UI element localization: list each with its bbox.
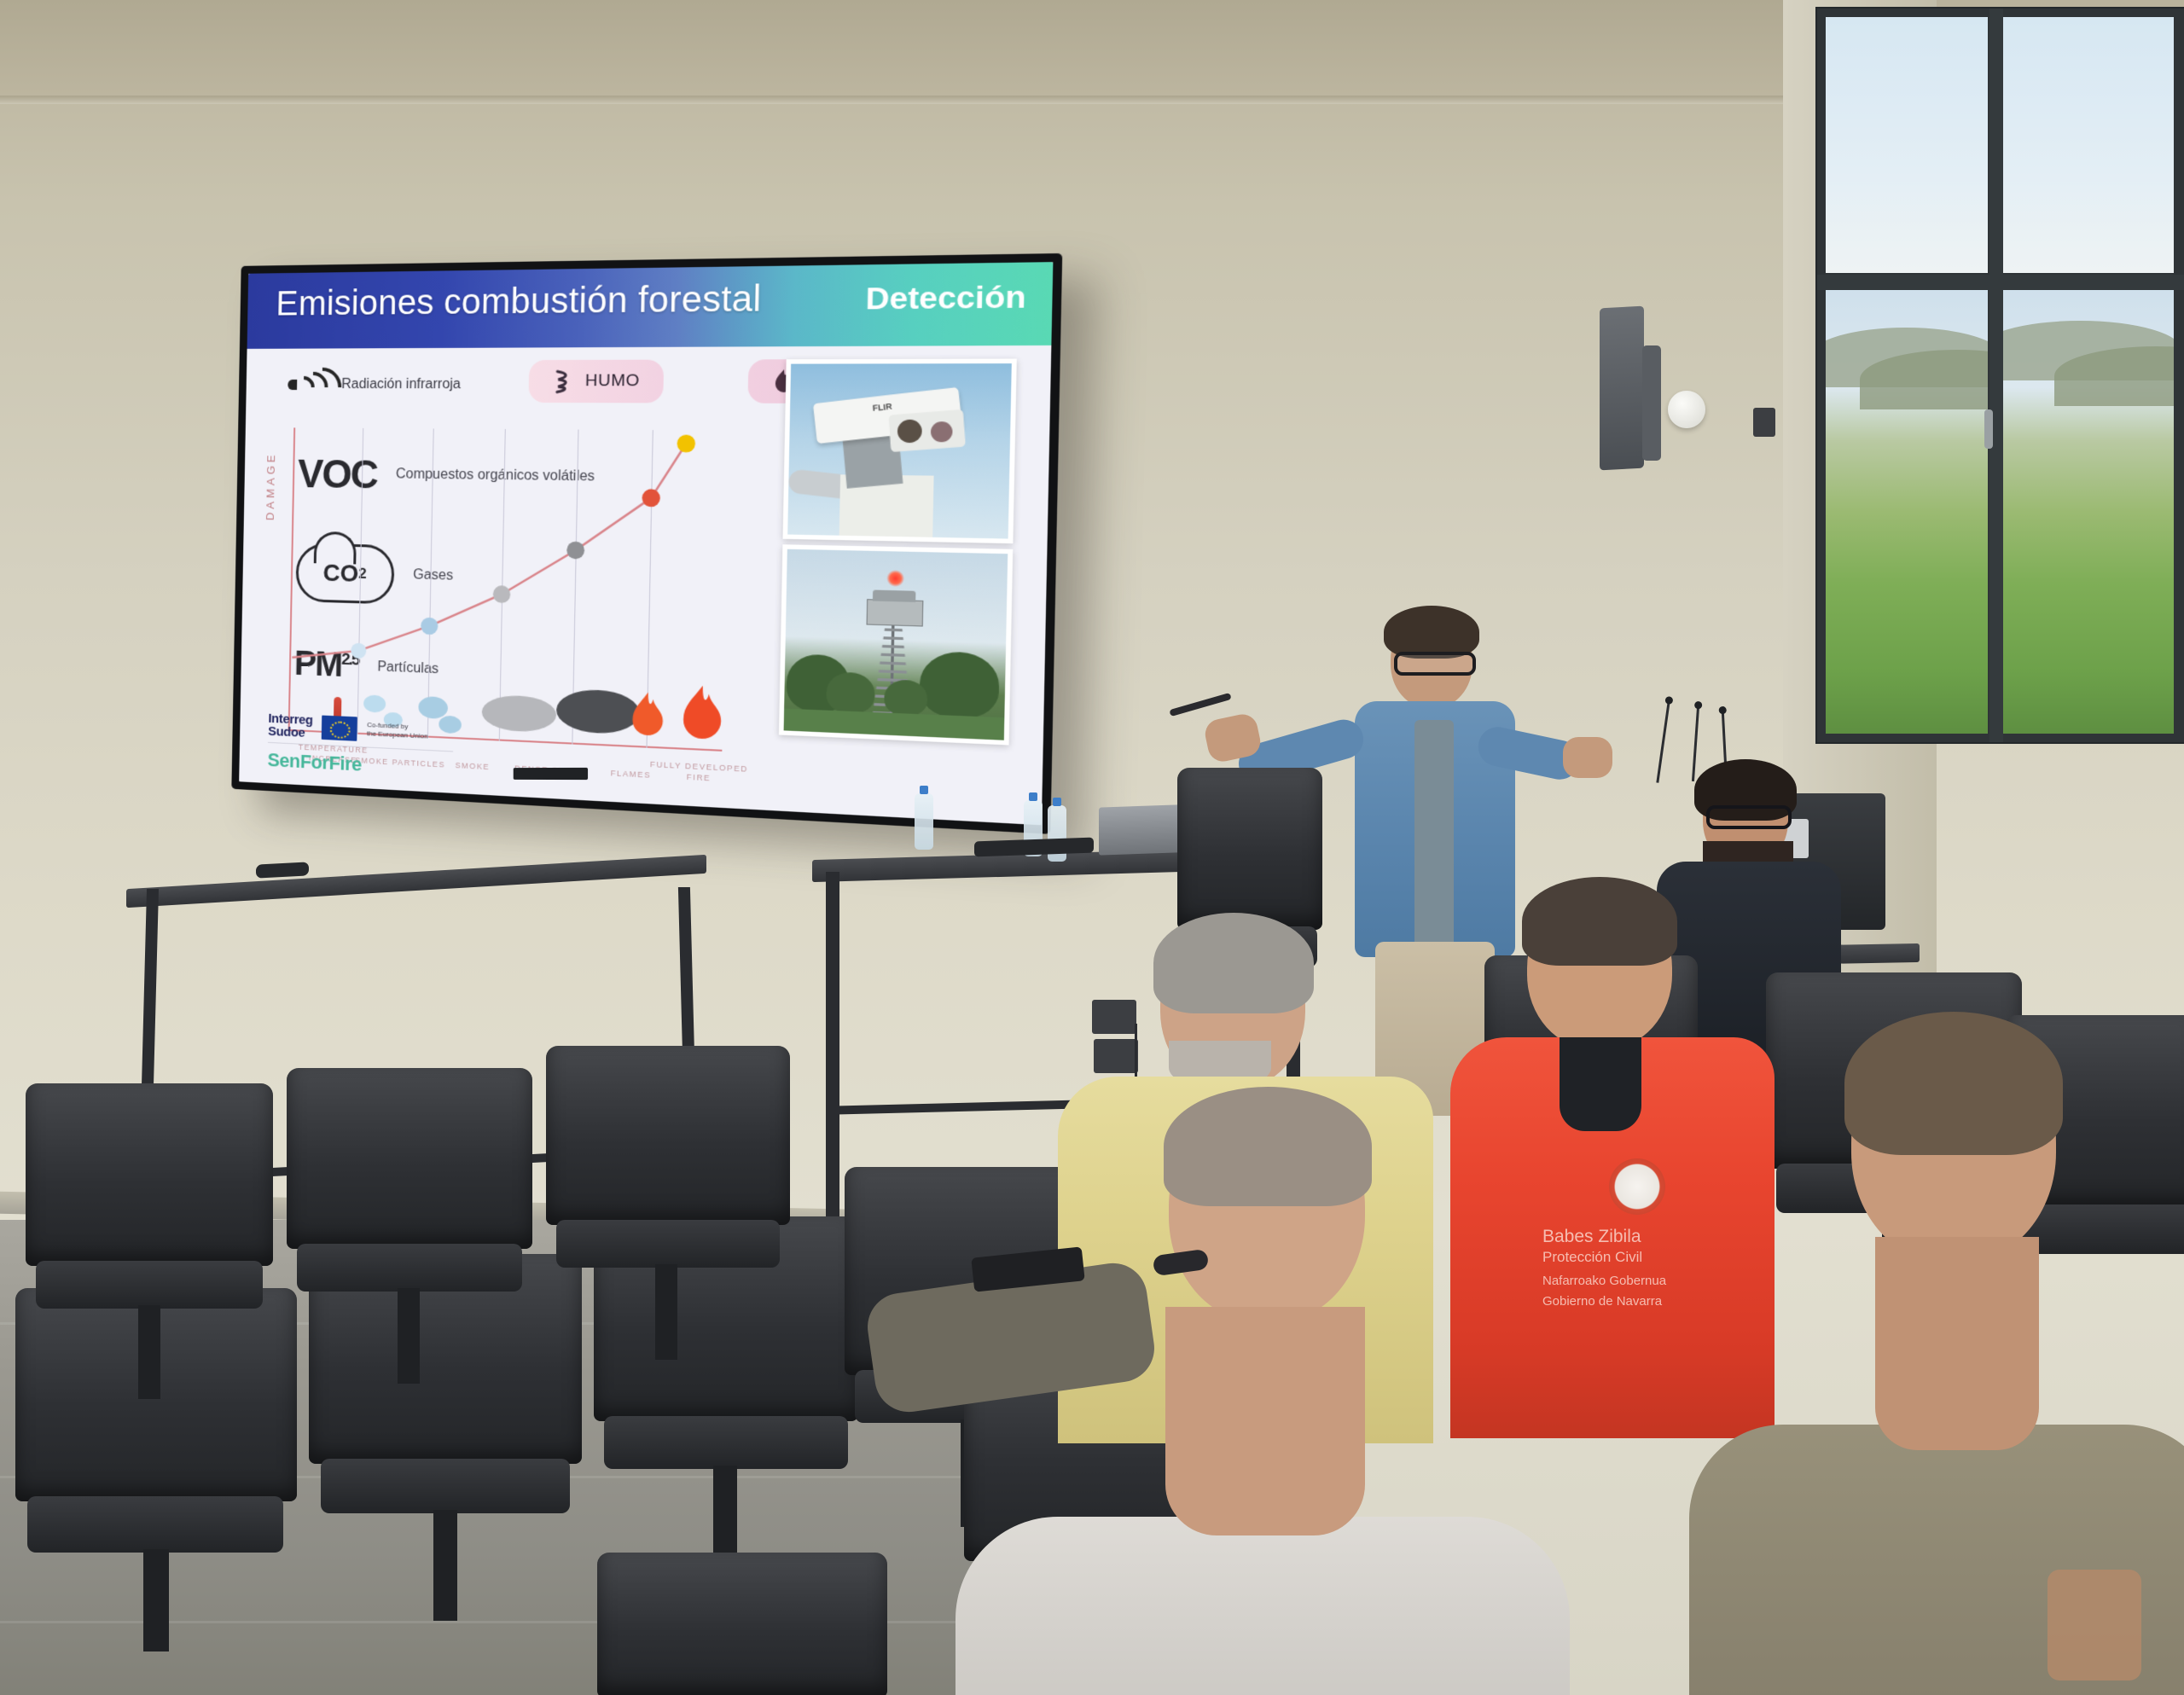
window-pane-top-left [1826,17,1988,273]
ceiling-edge [0,96,1860,104]
infrared-row: Radiación infrarroja [286,368,461,403]
flir-brand-label: FLIR [872,402,892,413]
attendee-red-collar [1560,1037,1641,1131]
remote-control[interactable] [256,862,309,878]
wall-speaker [1600,306,1644,471]
smoke-detector-icon [1668,391,1705,428]
slide: Emisiones combustión forestal Detección … [239,262,1053,825]
watchtower-photo [779,544,1013,745]
attendee-grey-tshirt [955,1517,1570,1695]
large-flame-stage-icon [677,681,728,748]
photo-stack: FLIR [779,359,1017,746]
infrared-waves-icon [286,368,332,403]
tv-screen: Emisiones combustión forestal Detección … [239,262,1053,825]
window-handle[interactable] [1984,409,1993,449]
attendee-olive-hair [1844,1012,2063,1155]
chair-row3-a[interactable] [26,1083,273,1339]
attendee-red-jacket-text: Babes Zibila Protección Civil Nafarroako… [1542,1227,1739,1312]
window-pane-top-right [2003,17,2174,273]
presenter-glasses [1394,652,1476,676]
attendee-olive-shirt [1723,1024,2184,1695]
chart-y-axis-label: DAMAGE [264,451,277,520]
jacket-text-spanish: Protección Civil [1542,1247,1739,1268]
jacket-text-gov-es: Gobierno de Navarra [1542,1292,1739,1312]
fire-marker-icon [886,570,904,587]
pill-humo: HUMO [528,360,664,403]
thermal-camera-photo: FLIR [783,359,1017,544]
smoke-particle-icon-a [363,694,385,712]
infrared-label: Radiación infrarroja [341,377,461,393]
chart-plot-area: TEMPERATURE INCREASE SMOKE PARTICLES SMO… [288,427,729,751]
wall-speaker-side [1642,345,1661,461]
footer-logos: Interreg Sudoe Co-funded by the European… [267,712,453,781]
attendee-grey-shirt [1007,1092,1519,1695]
chart-xtick-5: FULLY DEVELOPED FIRE [643,758,755,786]
eu-flag-icon [322,716,357,741]
attendee-yellow-hair [1153,913,1314,1013]
window [1817,9,2184,742]
light-smoke-icon [482,694,557,733]
jacket-text-gov-eu: Nafarroako Gobernua [1542,1271,1739,1292]
smoke-particle-icon-c [418,696,448,719]
slide-body: Radiación infrarroja HUMO [239,345,1051,825]
chair-row3-b[interactable] [287,1068,532,1324]
smoke-icon [552,369,576,393]
flame-stage-icon [627,688,668,743]
attendee-grey-hair [1164,1087,1372,1206]
water-bottle-1[interactable] [915,793,933,850]
presenter-desk-leg-a [826,872,839,1230]
window-pane-bottom-left [1826,290,1988,734]
window-pane-bottom-right [2003,290,2174,734]
slide-section-label: Detección [865,279,1026,317]
presentation-television[interactable]: Emisiones combustión forestal Detección … [231,253,1062,834]
attendee-red-hair [1522,877,1677,966]
presenter-inner-top [1414,720,1454,949]
scene-root: Emisiones combustión forestal Detección … [0,0,2184,1695]
chair-row3-c[interactable] [546,1046,790,1302]
presenter-right-hand [1563,737,1612,778]
jacket-text-euskera: Babes Zibila [1542,1227,1739,1247]
slide-title: Emisiones combustión forestal [276,279,762,324]
attendee-olive-shoulder-patch [2047,1570,2141,1680]
chart-markers [289,427,729,676]
wall-plate [1753,408,1775,437]
cofund-line2: the European Union [367,729,428,741]
chair-front-left[interactable] [597,1553,887,1695]
senforfire-logo: SenForFire [267,749,453,781]
eu-cofunding-text: Co-funded by the European Union [367,721,428,741]
interreg-logo: Interreg Sudoe [268,712,313,740]
pill-humo-label: HUMO [585,371,640,391]
attendee-grey-neck [1165,1307,1365,1535]
ceiling [0,0,1860,102]
presenter-hair [1384,606,1479,659]
attendee-right-glasses [1706,805,1792,829]
attendee-red-emblem [1609,1158,1665,1215]
tv-mount [514,768,588,780]
attendee-olive-neck [1875,1237,2039,1450]
